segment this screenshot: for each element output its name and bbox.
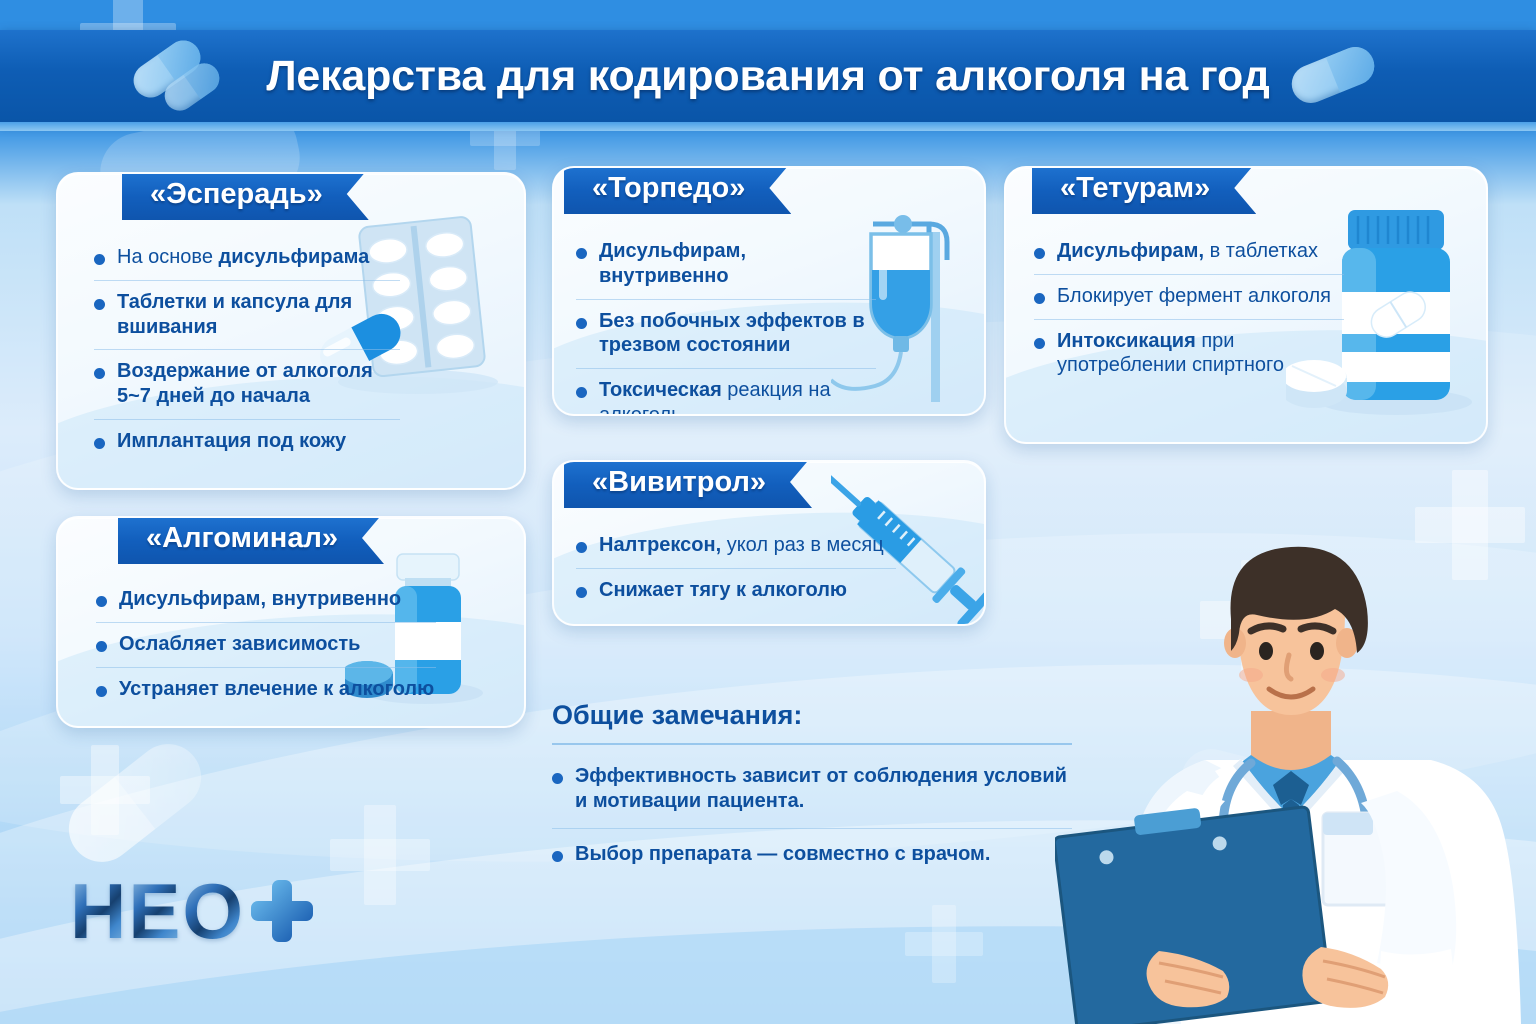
infographic-poster: Лекарства для кодирования от алкоголя на… — [0, 0, 1536, 1024]
card-torpedo: «Торпедо» Дисульфирам, внутривенно Без п… — [552, 166, 986, 416]
bullet-text: Интоксикация при употреблении спиртного — [1057, 329, 1344, 379]
bullet-dot-icon — [576, 387, 587, 398]
bullet-dot-icon — [1034, 248, 1045, 259]
card-title-esperal: «Эсперадь» — [122, 172, 369, 220]
medical-cross-icon — [330, 805, 430, 905]
page-title: Лекарства для кодирования от алкоголя на… — [266, 52, 1269, 101]
card-title-algominal: «Алгоминал» — [118, 516, 384, 564]
bullet-dot-icon — [1034, 338, 1045, 349]
bullet-text: Блокирует фермент алкоголя — [1057, 284, 1331, 309]
medical-cross-icon — [60, 745, 150, 835]
capsule-watermark-icon — [56, 731, 215, 875]
list-item: Дисульфирам, внутривенно — [576, 230, 876, 300]
bullet-list-esperal: На основе дисульфирама Таблетки и капсул… — [94, 236, 400, 464]
logo-letter: О — [182, 872, 241, 950]
bullet-dot-icon — [96, 641, 107, 652]
bullet-text: Дисульфирам, в таблетках — [1057, 239, 1318, 264]
medical-cross-icon — [905, 905, 983, 983]
bullet-dot-icon — [94, 368, 105, 379]
notes-title: Общие замечания: — [552, 700, 1072, 745]
bullet-dot-icon — [94, 299, 105, 310]
list-item: Имплантация под кожу — [94, 420, 400, 464]
bullet-dot-icon — [552, 851, 563, 862]
bullet-text: Устраняет влечение к алкоголю — [119, 677, 434, 702]
bullet-dot-icon — [576, 542, 587, 553]
card-title-teturam: «Тетурам» — [1032, 166, 1256, 214]
card-algominal: «Алгоминал» Дисульфирам, внутривенно — [56, 516, 526, 728]
list-item: Ослабляет зависимость — [96, 623, 436, 668]
logo-letter: Е — [128, 872, 178, 950]
bullet-text: Имплантация под кожу — [117, 429, 346, 454]
bullet-text: Без побочных эффектов в трезвом состояни… — [599, 309, 876, 359]
list-item: На основе дисульфирама — [94, 236, 400, 281]
bullet-dot-icon — [576, 248, 587, 259]
card-teturam: «Тетурам» — [1004, 166, 1488, 444]
bullet-dot-icon — [576, 587, 587, 598]
list-item: Устраняет влечение к алкоголю — [96, 668, 436, 712]
bullet-text: Налтрексон, укол раз в месяц — [599, 533, 884, 558]
bullet-text: Снижает тягу к алкоголю — [599, 578, 847, 603]
list-item: Блокирует фермент алкоголя — [1034, 275, 1344, 320]
card-vivitrol: «Вивитрол» Налтрексон, — [552, 460, 986, 626]
bullet-dot-icon — [552, 773, 563, 784]
general-notes-section: Общие замечания: Эффективность зависит о… — [552, 700, 1072, 880]
list-item: Налтрексон, укол раз в месяц — [576, 524, 896, 569]
list-item: Снижает тягу к алкоголю — [576, 569, 896, 613]
bullet-text: На основе дисульфирама — [117, 245, 369, 270]
list-item: Эффективность зависит от соблюдения усло… — [552, 751, 1072, 829]
logo-letter: Н — [70, 872, 124, 950]
card-esperal: «Эсперадь» — [56, 172, 526, 490]
card-title-vivitrol: «Вивитрол» — [564, 460, 812, 508]
list-item: Интоксикация при употреблении спиртного — [1034, 320, 1344, 389]
bullet-text: Эффективность зависит от соблюдения усло… — [575, 764, 1072, 814]
card-title-torpedo: «Торпедо» — [564, 166, 791, 214]
bullet-dot-icon — [94, 438, 105, 449]
list-item: Токсическая реакция на алкоголь — [576, 369, 876, 416]
plus-icon — [251, 880, 313, 942]
bullet-list-algominal: Дисульфирам, внутривенно Ослабляет завис… — [96, 578, 436, 711]
list-item: Без побочных эффектов в трезвом состояни… — [576, 300, 876, 370]
bullet-list-torpedo: Дисульфирам, внутривенно Без побочных эф… — [576, 230, 876, 416]
bullet-dot-icon — [96, 596, 107, 607]
bullet-text: Выбор препарата — совместно с врачом. — [575, 842, 990, 867]
bullet-dot-icon — [576, 318, 587, 329]
header-underline — [0, 122, 1536, 131]
list-item: Выбор препарата — совместно с врачом. — [552, 829, 1072, 881]
bullet-text: Токсическая реакция на алкоголь — [599, 378, 876, 416]
bullet-text: Ослабляет зависимость — [119, 632, 360, 657]
bullet-text: Дисульфирам, внутривенно — [599, 239, 876, 289]
bullet-dot-icon — [94, 254, 105, 265]
doctor-illustration — [1055, 515, 1525, 1024]
bullet-text: Воздержание от алкоголя 5~7 дней до нача… — [117, 359, 400, 409]
bullet-list-teturam: Дисульфирам, в таблетках Блокирует ферме… — [1034, 230, 1344, 388]
list-item: Дисульфирам, в таблетках — [1034, 230, 1344, 275]
bullet-text: Дисульфирам, внутривенно — [119, 587, 401, 612]
bullet-text: Таблетки и капсула для вшивания — [117, 290, 400, 340]
bullet-dot-icon — [1034, 293, 1045, 304]
list-item: Дисульфирам, внутривенно — [96, 578, 436, 623]
brand-logo: Н Е О — [70, 872, 313, 950]
bullet-list-vivitrol: Налтрексон, укол раз в месяц Снижает тяг… — [576, 524, 896, 613]
list-item: Воздержание от алкоголя 5~7 дней до нача… — [94, 350, 400, 420]
bullet-dot-icon — [96, 686, 107, 697]
list-item: Таблетки и капсула для вшивания — [94, 281, 400, 351]
